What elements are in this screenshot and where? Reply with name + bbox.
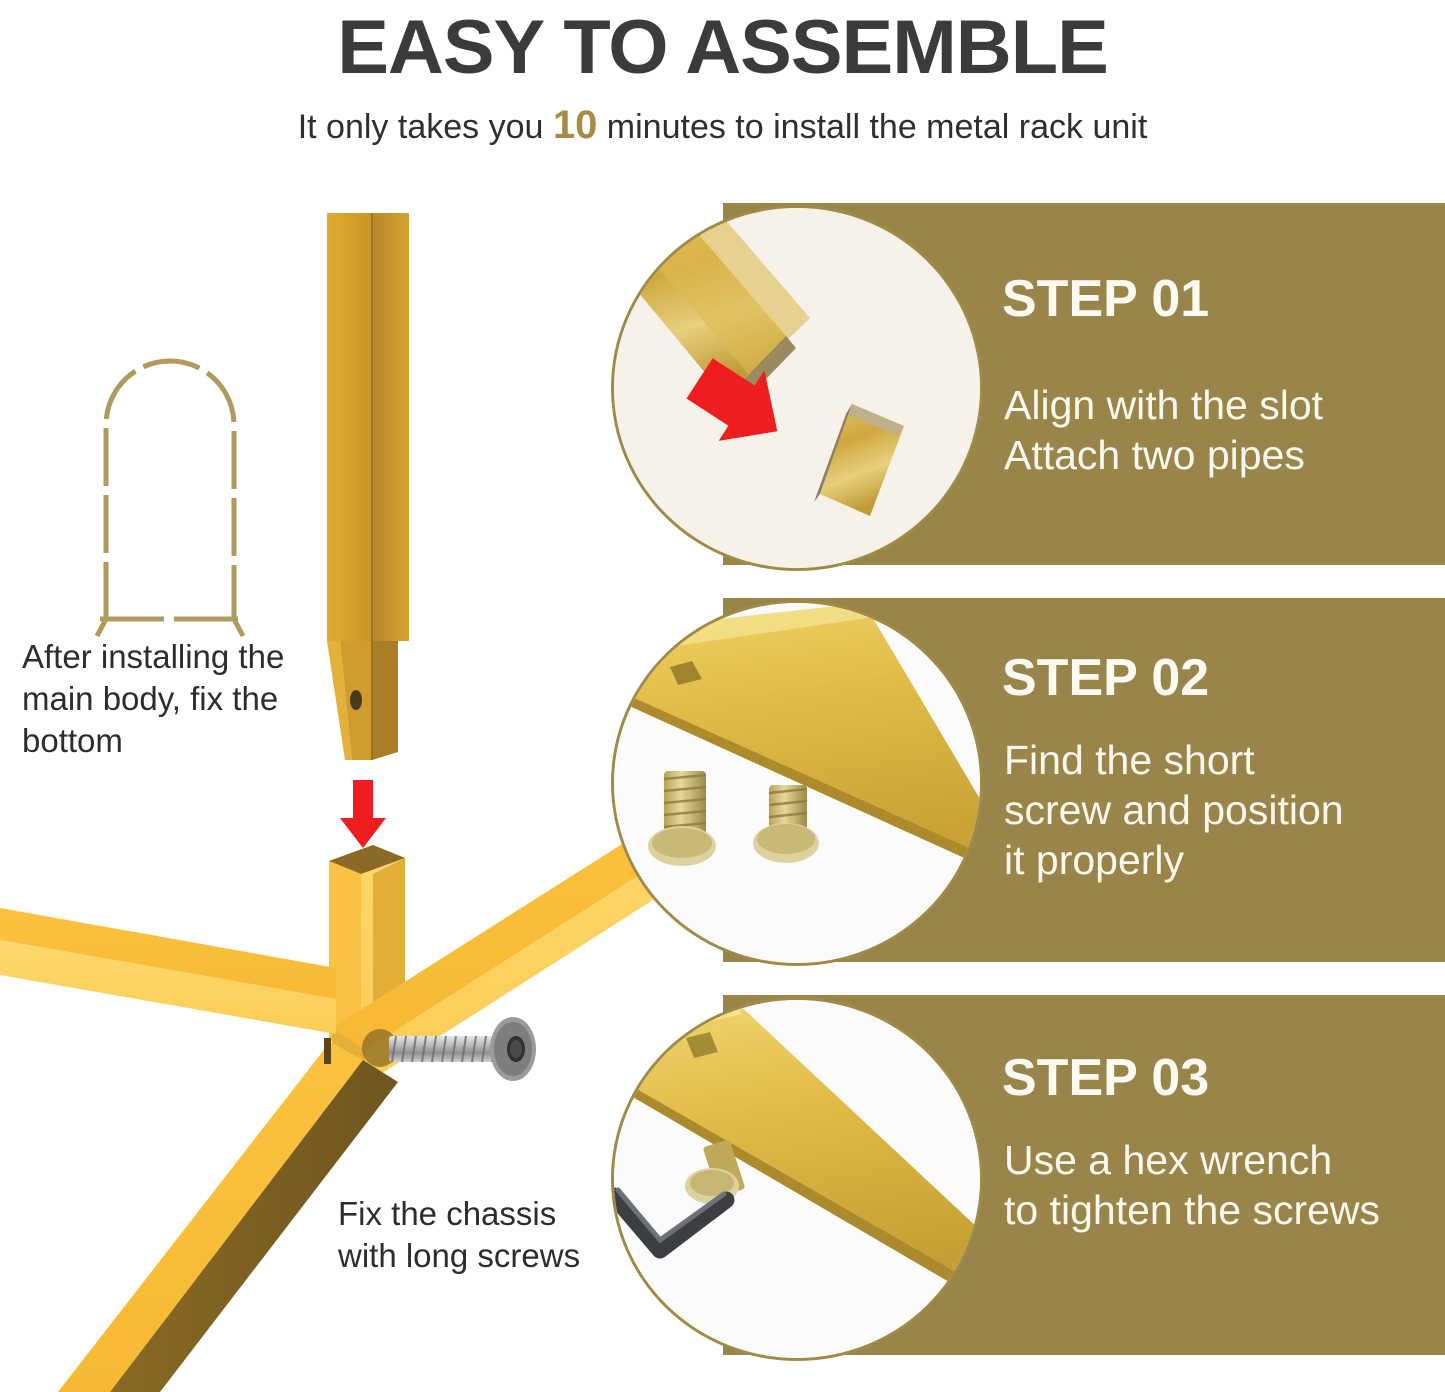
step-3-label: STEP 03	[1002, 1048, 1209, 1108]
photo-hex-wrench	[611, 997, 983, 1361]
subtitle-text-before: It only takes you	[298, 108, 553, 146]
step-2-description: Find the short screw and position it pro…	[1004, 735, 1424, 885]
arch-caption: After installing the main body, fix the …	[22, 636, 322, 762]
subtitle-minutes-value: 10	[553, 103, 598, 147]
arch-frame-outline-icon	[106, 361, 234, 620]
step1-photo-content	[614, 208, 980, 568]
step-3-description: Use a hex wrench to tighten the screws	[1004, 1135, 1445, 1235]
long-hex-screw-icon	[362, 1017, 536, 1081]
photo-pipe-slot-align	[611, 205, 983, 571]
chassis-caption: Fix the chassis with long screws	[338, 1193, 618, 1277]
subtitle-text-after: minutes to install the metal rack unit	[597, 108, 1147, 146]
step-2-label: STEP 02	[1002, 648, 1209, 708]
chassis-socket-icon	[329, 845, 405, 1055]
vertical-pipe-icon	[327, 213, 409, 760]
step2-photo-content	[614, 603, 980, 963]
step-1-description: Align with the slot Attach two pipes	[1004, 380, 1434, 480]
page-subtitle: It only takes you 10 minutes to install …	[0, 103, 1445, 148]
page-title: EASY TO ASSEMBLE	[0, 4, 1445, 91]
assembly-instruction-graphic: EASY TO ASSEMBLE It only takes you 10 mi…	[0, 0, 1445, 1392]
arch-frame-feet-icon	[97, 619, 243, 636]
photo-short-screws	[611, 600, 983, 966]
red-down-arrow-icon	[340, 780, 386, 848]
step3-photo-content	[614, 1000, 980, 1358]
step-1-label: STEP 01	[1002, 269, 1209, 329]
